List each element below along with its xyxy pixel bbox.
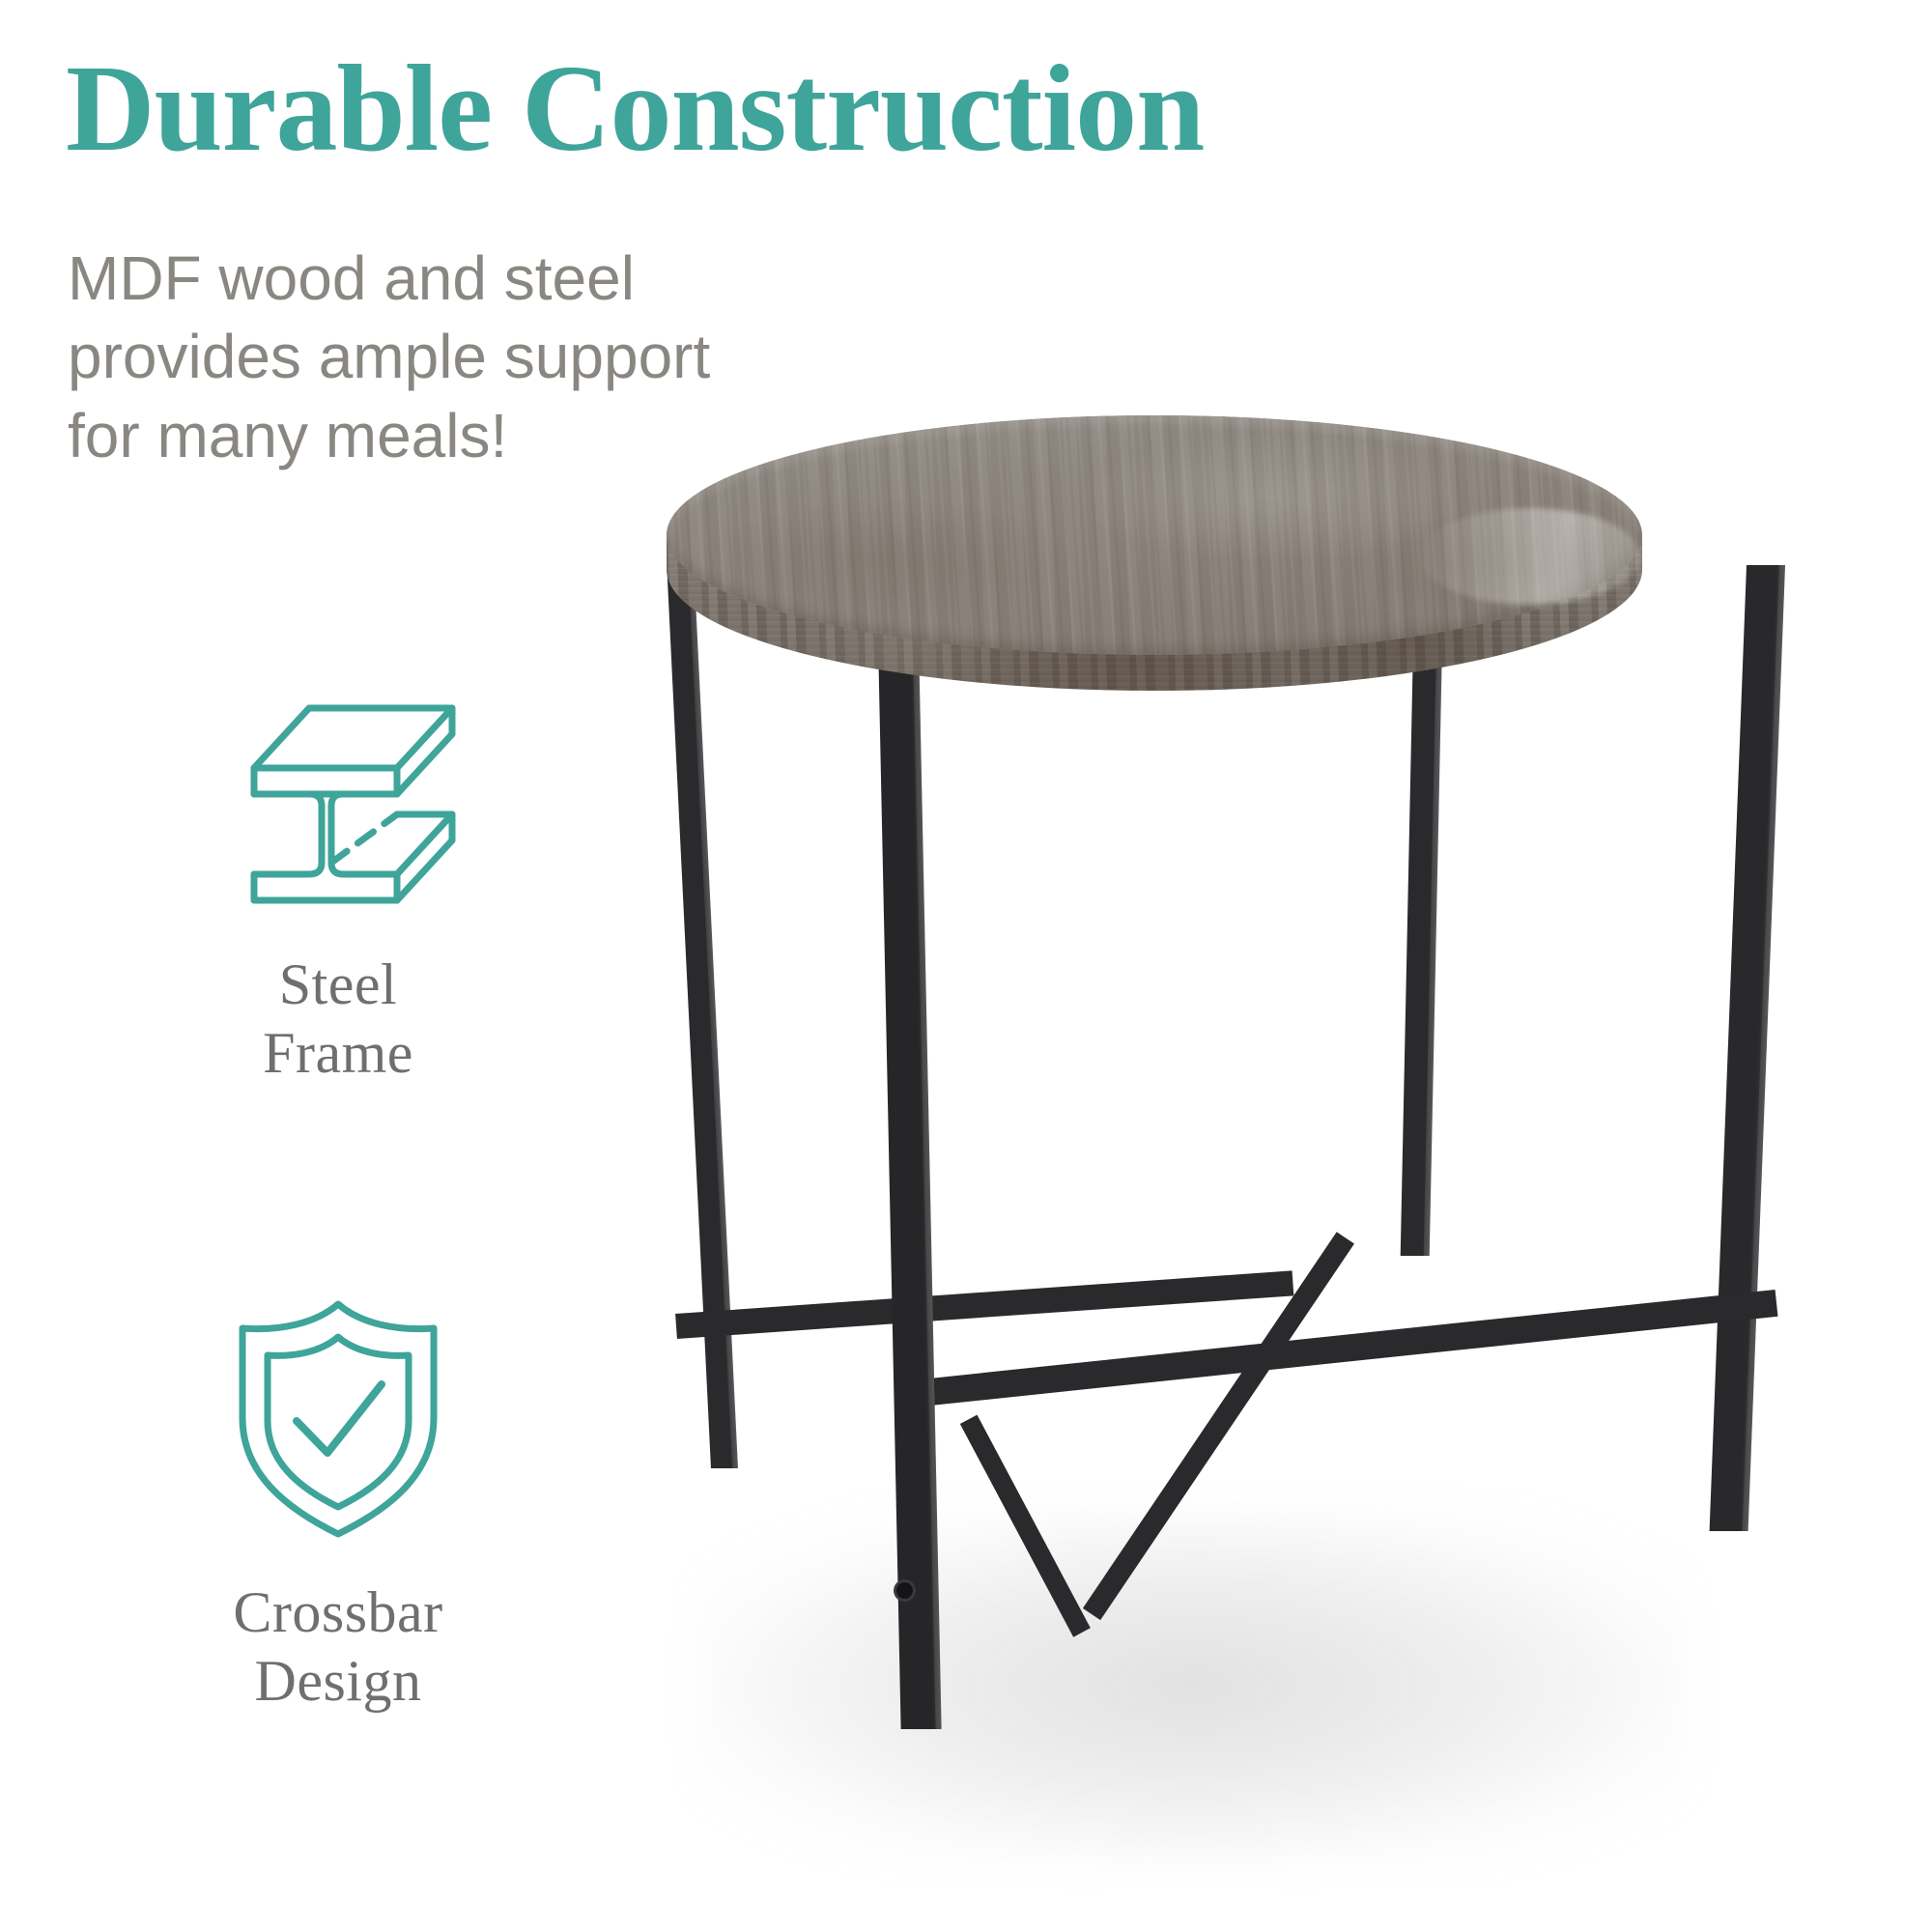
tabletop-rim-highlight: [1420, 508, 1640, 605]
i-beam-icon: [208, 676, 469, 918]
feature-label-line-2: Design: [0, 1647, 676, 1716]
shield-check-icon: [227, 1294, 449, 1546]
feature-label-line-1: Crossbar: [0, 1578, 676, 1647]
feature-crossbar-design-label: Crossbar Design: [0, 1578, 676, 1716]
marketing-product-slide: Durable Construction MDF wood and steel …: [0, 0, 1932, 1932]
leg-screw: [896, 1582, 913, 1599]
feature-label-line-1: Steel: [0, 951, 676, 1019]
feature-crossbar-design: Crossbar Design: [0, 1294, 676, 1716]
page-title: Durable Construction: [66, 46, 1418, 170]
feature-steel-frame: Steel Frame: [0, 676, 676, 1088]
stretcher-bar-left: [675, 1270, 1293, 1339]
feature-steel-frame-label: Steel Frame: [0, 951, 676, 1088]
subtitle-line-2: provides ample support: [68, 318, 802, 396]
product-image-round-dining-table: [667, 415, 1932, 1922]
feature-label-line-2: Frame: [0, 1019, 676, 1088]
table-leg-right: [1710, 565, 1785, 1531]
subtitle-line-1: MDF wood and steel: [68, 240, 802, 318]
floor-shadow: [696, 1507, 1690, 1864]
